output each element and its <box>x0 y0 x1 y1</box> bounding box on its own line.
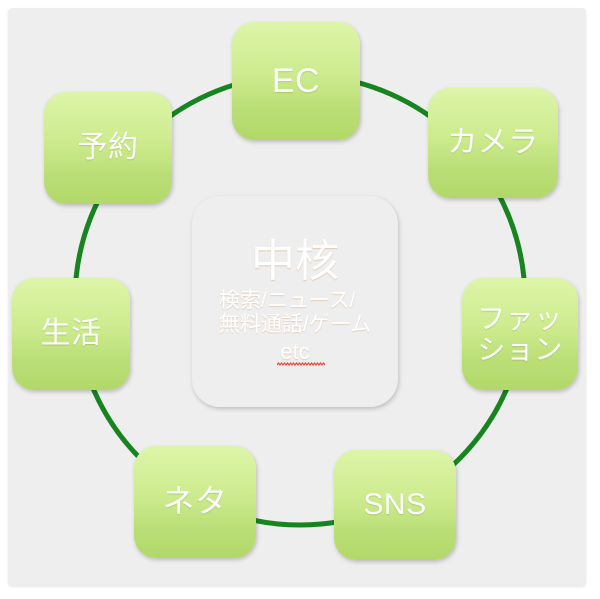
node-fashion[interactable]: ファッ ション <box>462 278 578 390</box>
core-title: 中核 <box>251 239 339 285</box>
node-neta-label: ネタ <box>162 484 227 520</box>
core-etc-text: etc <box>280 339 309 364</box>
node-ec[interactable]: EC <box>232 22 360 140</box>
node-life[interactable]: 生活 <box>12 278 130 390</box>
node-camera-label: カメラ <box>447 126 539 160</box>
node-reserve-label: 予約 <box>78 131 139 165</box>
core-subtitle: 検索/ニュース/ 無料通話/ゲーム <box>219 289 371 338</box>
node-sns-label: SNS <box>363 488 426 522</box>
node-ec-label: EC <box>272 62 320 100</box>
node-fashion-label: ファッ ション <box>477 303 563 366</box>
diagram-canvas: EC カメラ ファッ ション SNS ネタ 生活 予約 中核 検索/ニュース/ … <box>0 0 600 599</box>
node-neta[interactable]: ネタ <box>134 446 256 558</box>
node-camera[interactable]: カメラ <box>428 88 558 198</box>
node-life-label: 生活 <box>41 317 102 351</box>
spellcheck-squiggle-icon <box>277 362 325 366</box>
node-reserve[interactable]: 予約 <box>44 92 172 204</box>
node-sns[interactable]: SNS <box>334 450 456 560</box>
core-node[interactable]: 中核 検索/ニュース/ 無料通話/ゲーム etc <box>192 196 398 407</box>
core-etc-wrapper: etc <box>280 339 309 364</box>
